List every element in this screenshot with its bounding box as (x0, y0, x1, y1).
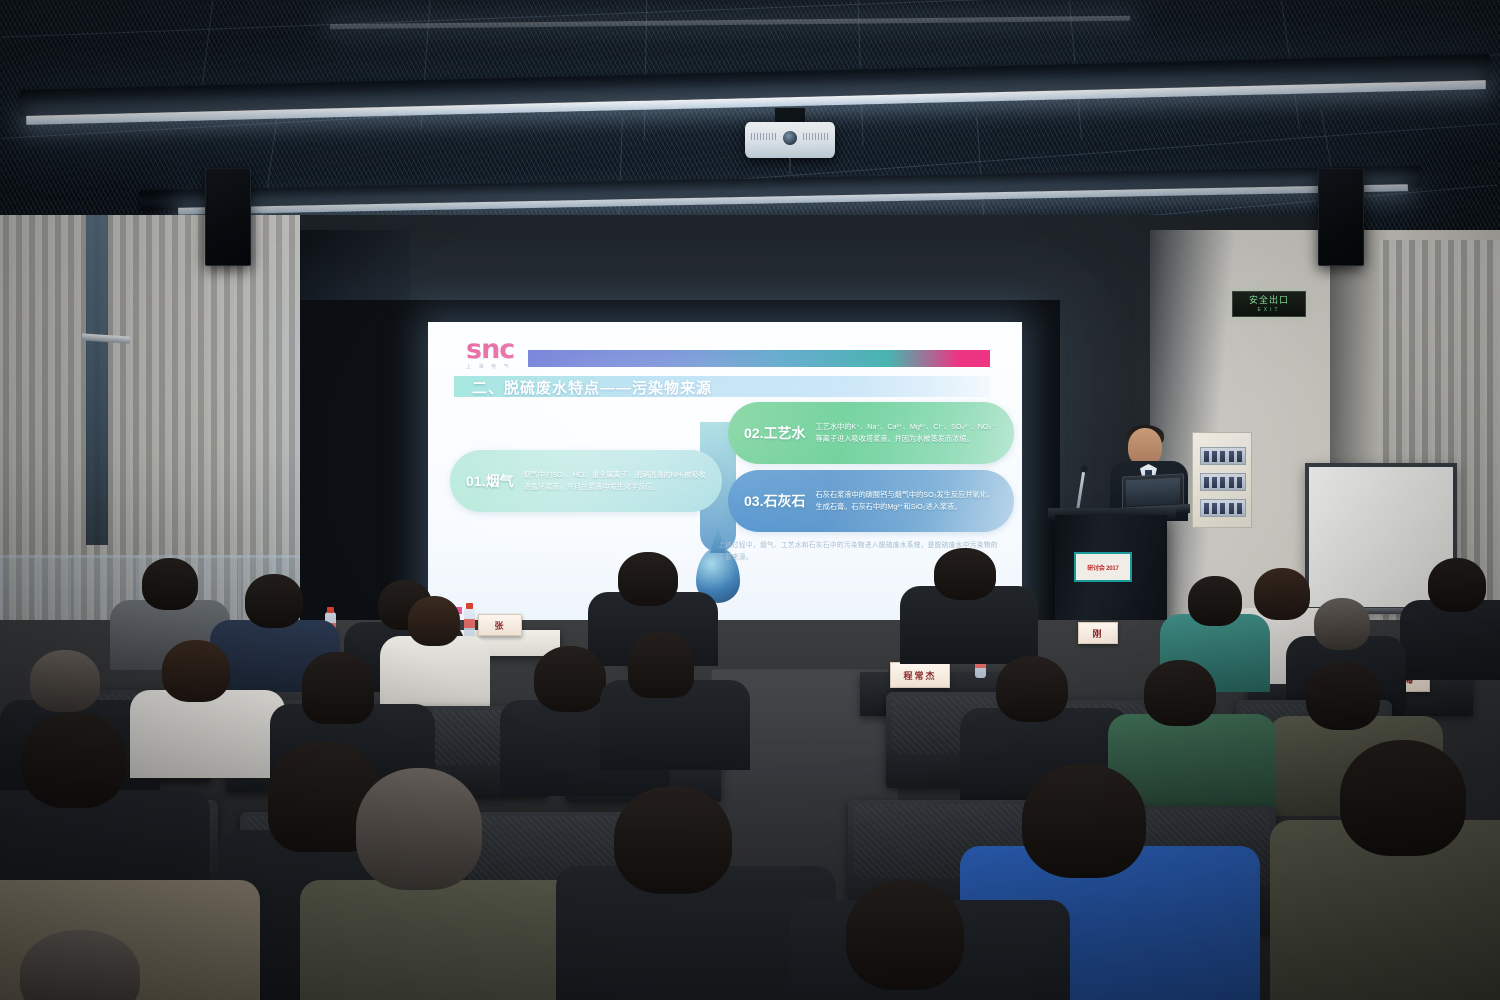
audience-head-back-8 (1188, 576, 1242, 626)
audience-head-front-4 (356, 768, 482, 890)
audience-person-mid-2 (130, 690, 285, 778)
curtain-opening (86, 215, 108, 545)
audience-head-mid-4 (534, 646, 606, 712)
namecard-center-text: 程常杰 (903, 669, 936, 682)
podium-sign-text: 研讨会 2017 (1087, 563, 1118, 572)
wall-control-panel[interactable] (1192, 432, 1252, 528)
slide-item-03-number: 03.石灰石 (744, 491, 805, 511)
audience-head-front-1 (22, 712, 126, 808)
namecard-midright: 刚 (1078, 622, 1118, 644)
audience-head-front-6 (1022, 764, 1146, 878)
audience-head-mid-2 (162, 640, 230, 702)
slide-logo-text: snc (466, 334, 514, 365)
namecard-left: 张 (478, 614, 522, 636)
namecard-left-text: 张 (494, 619, 505, 632)
slide-item-03-body: 石灰石浆液中的碳酸钙与烟气中的SO₂发生反应并氧化，生成石膏。石灰石中的Mg²⁺… (815, 489, 1000, 513)
presentation-slide: snc 上 海 电 气 二、脱硫废水特点——污染物来源 脱硫废水 01.烟气 烟… (428, 322, 1022, 622)
exit-sign: 安全出口 EXIT (1232, 291, 1306, 317)
slide-header-gradient-bar (528, 350, 990, 367)
laptop-screen (1126, 478, 1180, 507)
audience-head-mid-3 (302, 652, 374, 724)
exit-sign-label-cn: 安全出口 (1249, 296, 1289, 305)
control-panel-row-3[interactable] (1200, 499, 1246, 517)
audience-person-back-6 (380, 636, 490, 706)
wall-speaker-right (1318, 168, 1364, 266)
audience-head-mid-7 (1306, 662, 1380, 730)
exit-sign-label-en: EXIT (1257, 307, 1280, 313)
slide-title: 二、脱硫废水特点——污染物来源 (472, 377, 712, 398)
audience-head-mid-8 (1144, 660, 1216, 726)
conference-hall-photo: 安全出口 EXIT snc 上 海 电 气 二、脱硫废水特点——污染物来源 脱硫… (0, 0, 1500, 1000)
slide-item-01-number: 01.烟气 (466, 471, 513, 491)
audience-head-back-7 (1254, 568, 1310, 620)
slide-item-02: 02.工艺水 工艺水中的K⁺、Na⁺、Ca²⁺、Mg²⁺、Cl⁻、SO₄²⁻、N… (728, 402, 1014, 464)
podium-event-sign: 研讨会 2017 (1074, 552, 1132, 582)
slide-item-02-body: 工艺水中的K⁺、Na⁺、Ca²⁺、Mg²⁺、Cl⁻、SO₄²⁻、NO₃⁻等离子进… (815, 421, 1000, 445)
namecard-center: 程常杰 (890, 662, 950, 688)
control-panel-row-1[interactable] (1200, 447, 1246, 465)
audience-head-mid-5 (628, 632, 694, 698)
audience-head-back-6 (408, 596, 460, 646)
audience-head-mid-1 (30, 650, 100, 712)
projector-vent-left (751, 133, 777, 140)
projector-lens (783, 131, 797, 145)
water-bottle-1 (464, 608, 475, 638)
audience-head-back-10 (1314, 598, 1370, 650)
slide-logo: snc 上 海 电 气 (466, 336, 514, 370)
audience-head-back-9 (1428, 558, 1486, 612)
audience-head-back-1 (142, 558, 198, 610)
namecard-midright-text: 刚 (1092, 627, 1103, 640)
audience-head-front-5 (614, 786, 732, 894)
audience-head-back-2 (245, 574, 303, 628)
projector-vent-right (803, 133, 829, 140)
audience-head-front-8 (846, 880, 964, 990)
audience-head-front-7 (1340, 740, 1466, 856)
control-panel-row-2[interactable] (1200, 473, 1246, 491)
audience-head-back-5 (934, 548, 996, 600)
ceiling-projector (745, 122, 835, 158)
audience-person-back-9 (1400, 600, 1500, 680)
wall-speaker-left (205, 168, 251, 266)
slide-item-03: 03.石灰石 石灰石浆液中的碳酸钙与烟气中的SO₂发生反应并氧化，生成石膏。石灰… (728, 470, 1014, 532)
audience-head-mid-6 (996, 656, 1068, 722)
slide-item-01: 01.烟气 烟气中的SO₂、HCl、重金属离子、脱硝逃逸的NH₃被吸收进循环浆液… (450, 450, 722, 512)
slide-logo-subtext: 上 海 电 气 (466, 365, 514, 370)
slide-item-02-number: 02.工艺水 (744, 423, 805, 443)
slide-item-01-body: 烟气中的SO₂、HCl、重金属离子、脱硝逃逸的NH₃被吸收进循环浆液，并且在浆液… (523, 469, 708, 493)
audience-head-back-4 (618, 552, 678, 606)
